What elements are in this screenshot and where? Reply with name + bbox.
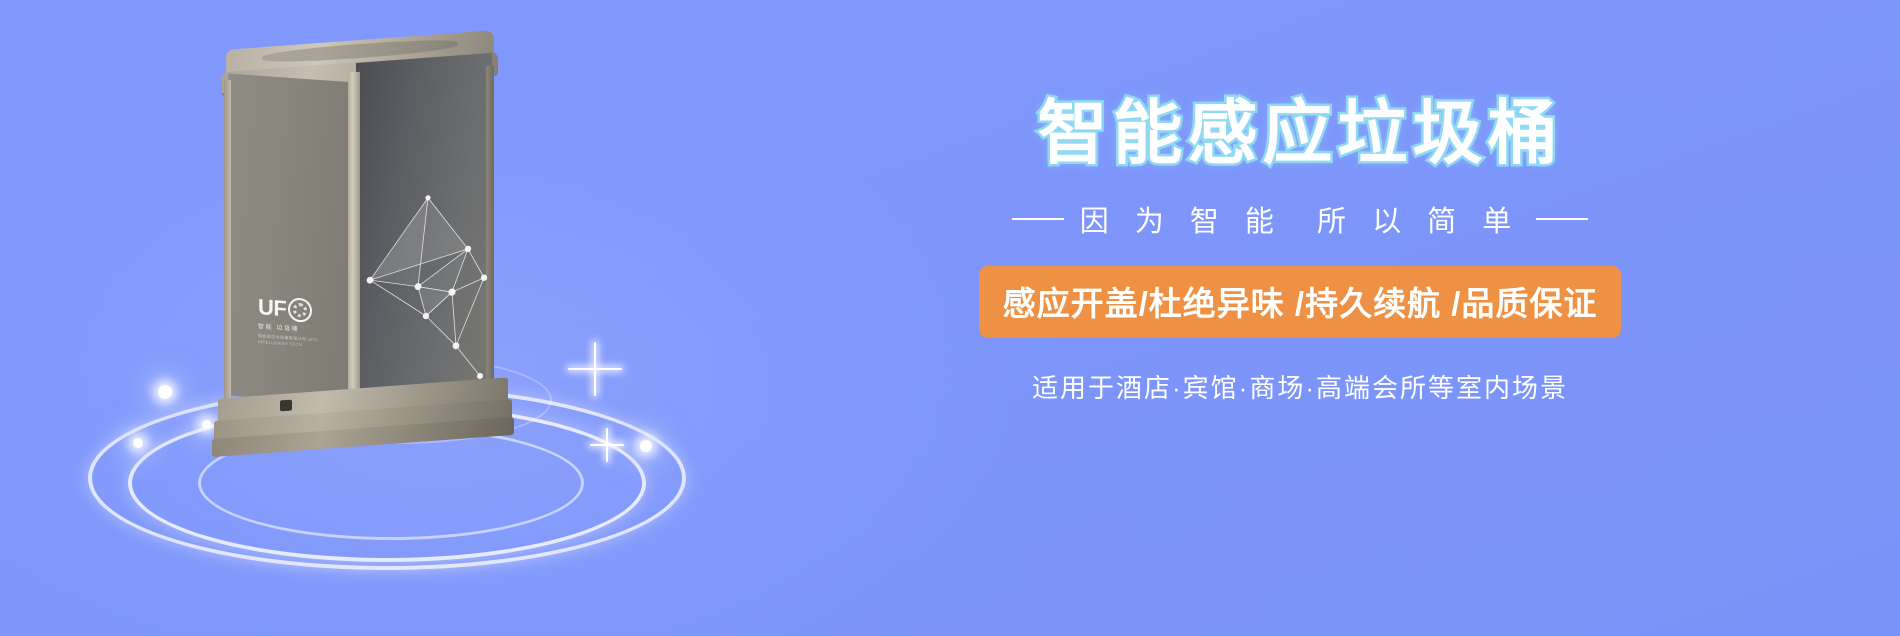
logo-wordmark: UF <box>258 296 286 320</box>
feature-badge: 感应开盖/杜绝异味 /持久续航 /品质保证 <box>979 266 1622 338</box>
banner-tagline: 适用于酒店·宾馆·商场·高端会所等室内场景 <box>860 368 1740 405</box>
product-logo: UF 智能 垃圾桶 智能感应垃圾桶有限公司 UFO INTELLIGENT TE… <box>258 295 340 351</box>
logo-wordmark-row: UF <box>258 295 340 325</box>
network-graphic <box>356 185 496 400</box>
glow-dot <box>640 440 652 452</box>
banner-headline: 智能感应垃圾桶 <box>860 96 1740 172</box>
bin-edge-left <box>224 80 231 398</box>
subline-text: 因 为 智 能 所 以 简 单 <box>1080 198 1520 240</box>
bin-base-slot <box>280 400 292 412</box>
banner-subline: 因 为 智 能 所 以 简 单 <box>860 198 1740 240</box>
glow-dot <box>133 438 143 448</box>
sparkle-icon <box>568 342 622 396</box>
banner-copy-block: 智能感应垃圾桶 因 为 智 能 所 以 简 单 感应开盖/杜绝异味 /持久续航 … <box>860 96 1740 405</box>
bin-face-left <box>228 74 354 405</box>
glow-dot <box>158 385 172 399</box>
glow-dot <box>202 420 211 429</box>
logo-ring-icon <box>288 297 312 323</box>
product-stage: UF 智能 垃圾桶 智能感应垃圾桶有限公司 UFO INTELLIGENT TE… <box>70 30 710 570</box>
feature-badge-wrap: 感应开盖/杜绝异味 /持久续航 /品质保证 <box>860 266 1740 338</box>
subline-dash-left <box>1012 218 1064 220</box>
product-promo-banner: UF 智能 垃圾桶 智能感应垃圾桶有限公司 UFO INTELLIGENT TE… <box>0 0 1900 636</box>
smart-trash-bin-product: UF 智能 垃圾桶 智能感应垃圾桶有限公司 UFO INTELLIGENT TE… <box>220 40 500 450</box>
subline-dash-right <box>1536 218 1588 220</box>
